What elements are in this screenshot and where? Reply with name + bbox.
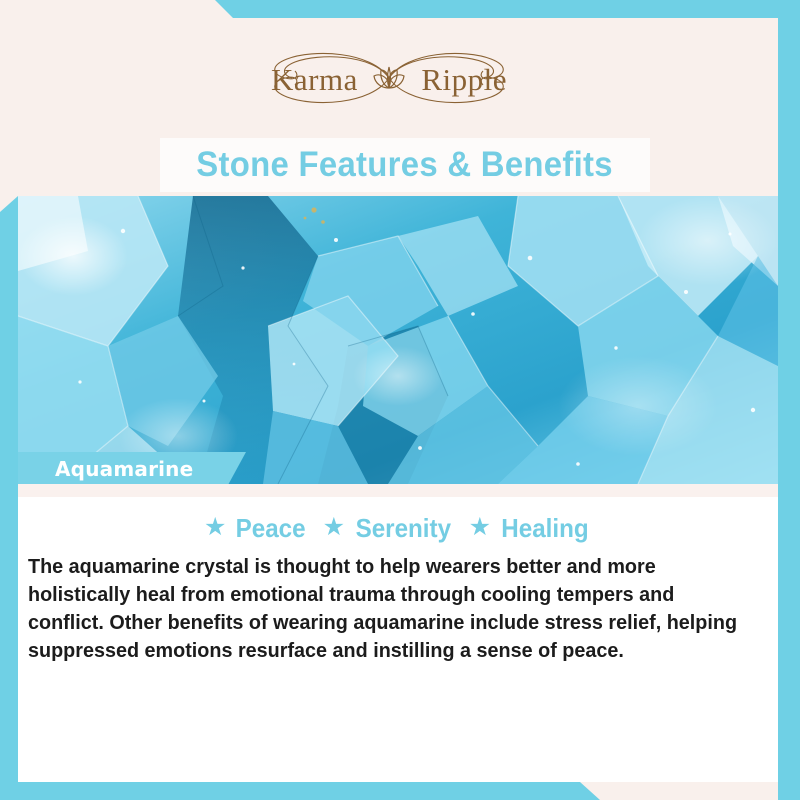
- crystal-hero-image: [18, 196, 778, 484]
- brand-logo: Karma Ripple: [239, 45, 539, 111]
- aquamarine-crystal-illustration: [18, 196, 778, 484]
- logo-word-ripple: Ripple: [421, 62, 507, 98]
- description-text: The aquamarine crystal is thought to hel…: [28, 553, 747, 665]
- star-icon: ★: [204, 515, 226, 540]
- keyword-label: Serenity: [356, 513, 451, 544]
- cream-divider: [18, 484, 778, 497]
- keyword-label: Healing: [501, 513, 588, 544]
- keyword-item: ★ Peace: [204, 513, 309, 544]
- right-accent-strip: [778, 0, 800, 800]
- keyword-item: ★ Serenity: [323, 513, 455, 544]
- keyword-label: Peace: [236, 513, 306, 544]
- star-icon: ★: [323, 515, 345, 540]
- top-accent-bar: [0, 0, 800, 18]
- star-icon: ★: [469, 515, 491, 540]
- content-panel: ★ Peace ★ Serenity ★ Healing The aquamar…: [18, 497, 778, 782]
- keyword-item: ★ Healing: [469, 513, 592, 544]
- keyword-list: ★ Peace ★ Serenity ★ Healing: [18, 513, 778, 544]
- page-title: Stone Features & Benefits: [197, 145, 614, 185]
- left-accent-strip: [0, 196, 18, 800]
- stone-name: Aquamarine: [55, 457, 193, 481]
- logo-word-karma: Karma: [271, 62, 358, 98]
- stone-name-banner: Aquamarine: [18, 452, 246, 485]
- infographic-card: Karma Ripple Stone Features & Benefits: [0, 0, 800, 800]
- brand-header: Karma Ripple: [0, 18, 778, 138]
- page-title-band: Stone Features & Benefits: [160, 138, 650, 192]
